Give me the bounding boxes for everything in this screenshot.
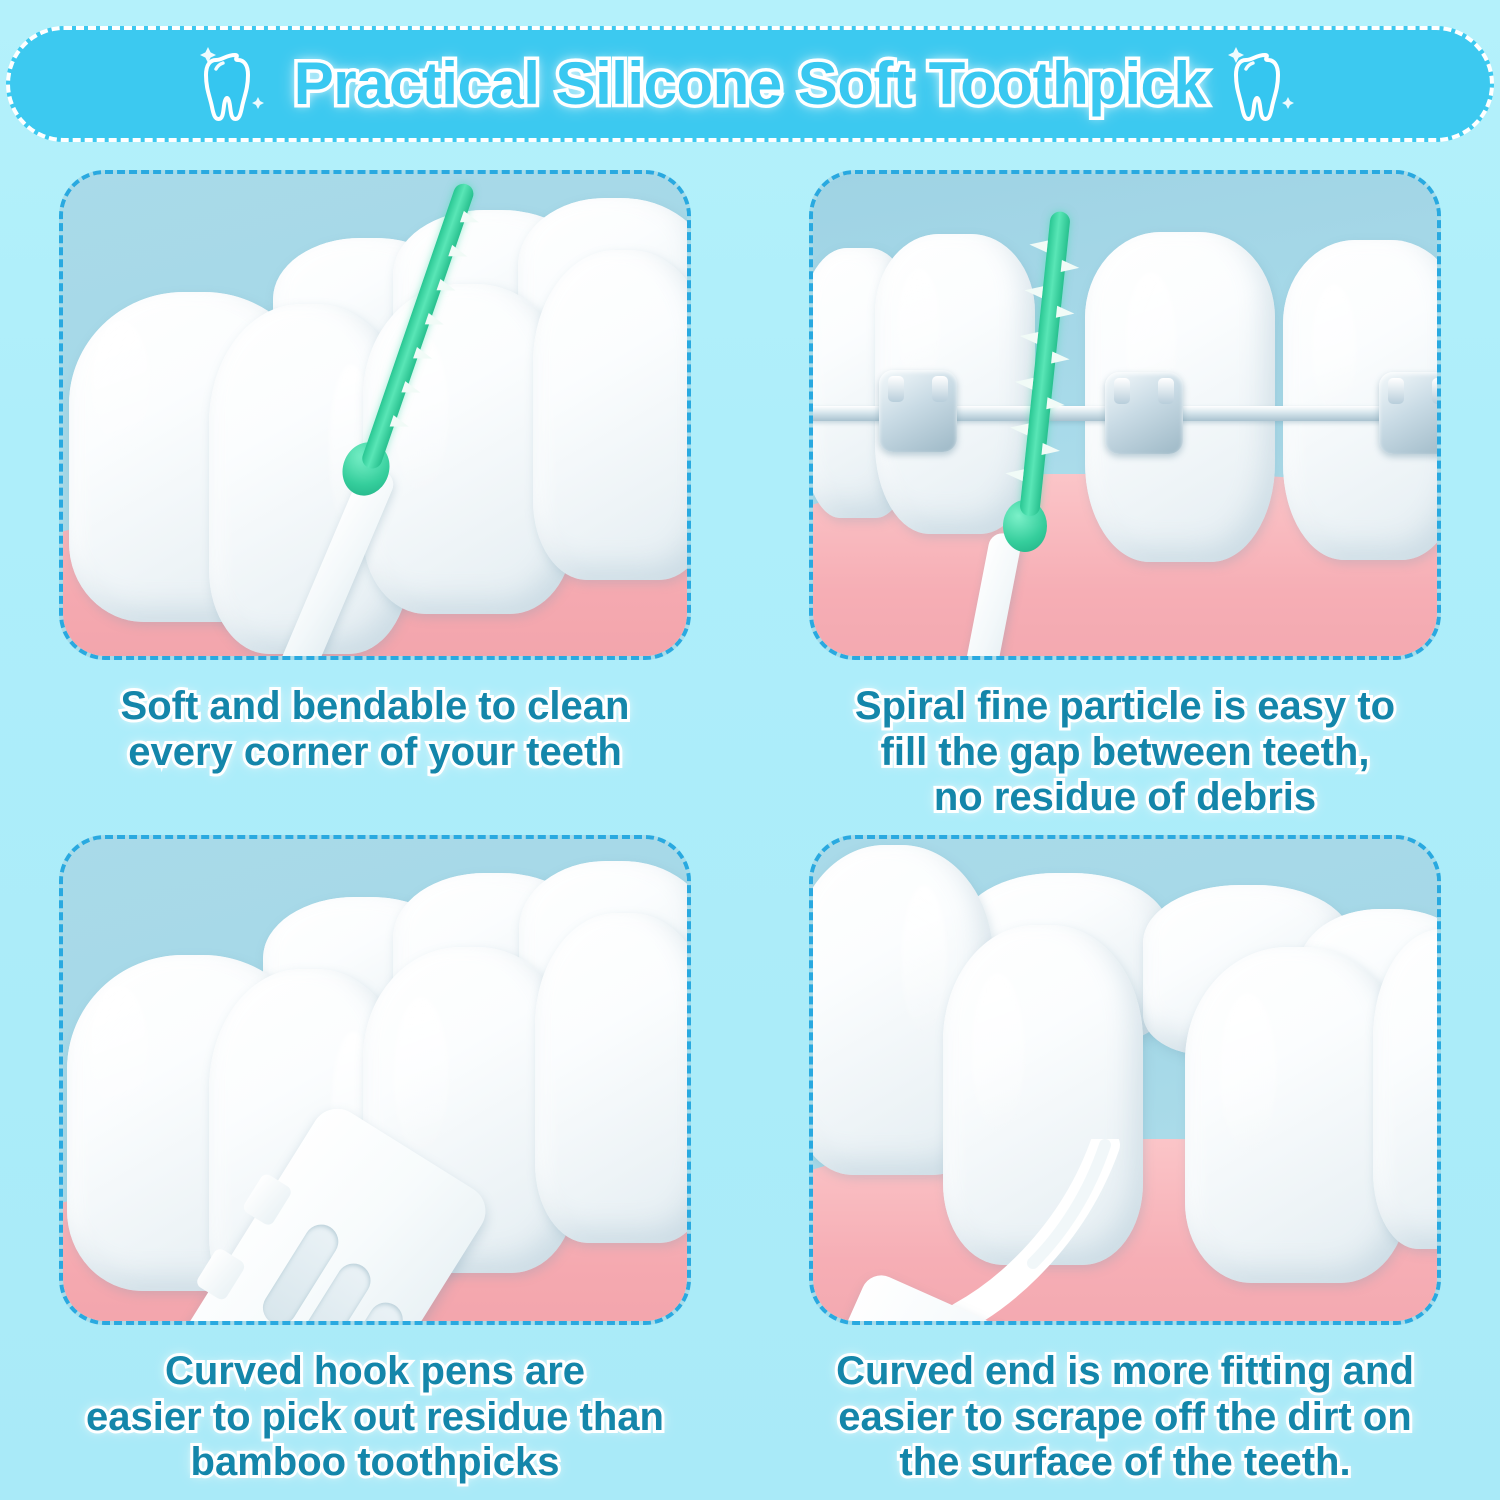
feature-caption: Curved end is more fitting and easier to… xyxy=(795,1349,1455,1486)
feature-cell-curved-end: Curved end is more fitting and easier to… xyxy=(750,835,1500,1500)
feature-image-curved-hook-pens xyxy=(59,835,691,1325)
feature-cell-curved-hook-pens: Curved hook pens are easier to pick out … xyxy=(0,835,750,1500)
feature-image-soft-bendable xyxy=(59,170,691,660)
feature-cell-soft-bendable: Soft and bendable to clean every corner … xyxy=(0,170,750,835)
feature-caption: Spiral fine particle is easy to fill the… xyxy=(795,684,1455,821)
feature-caption: Soft and bendable to clean every corner … xyxy=(45,684,705,775)
feature-image-curved-end xyxy=(809,835,1441,1325)
header-banner: Practical Silicone Soft Toothpick xyxy=(6,26,1494,142)
tooth-icon xyxy=(198,41,272,127)
feature-caption: Curved hook pens are easier to pick out … xyxy=(45,1349,705,1486)
feature-grid: Soft and bendable to clean every corner … xyxy=(0,170,1500,1500)
feature-cell-spiral-fine-particle: Spiral fine particle is easy to fill the… xyxy=(750,170,1500,835)
page-title: Practical Silicone Soft Toothpick xyxy=(294,54,1207,114)
infographic-page: Practical Silicone Soft Toothpick xyxy=(0,0,1500,1500)
feature-image-spiral-fine-particle xyxy=(809,170,1441,660)
tooth-icon xyxy=(1228,41,1302,127)
